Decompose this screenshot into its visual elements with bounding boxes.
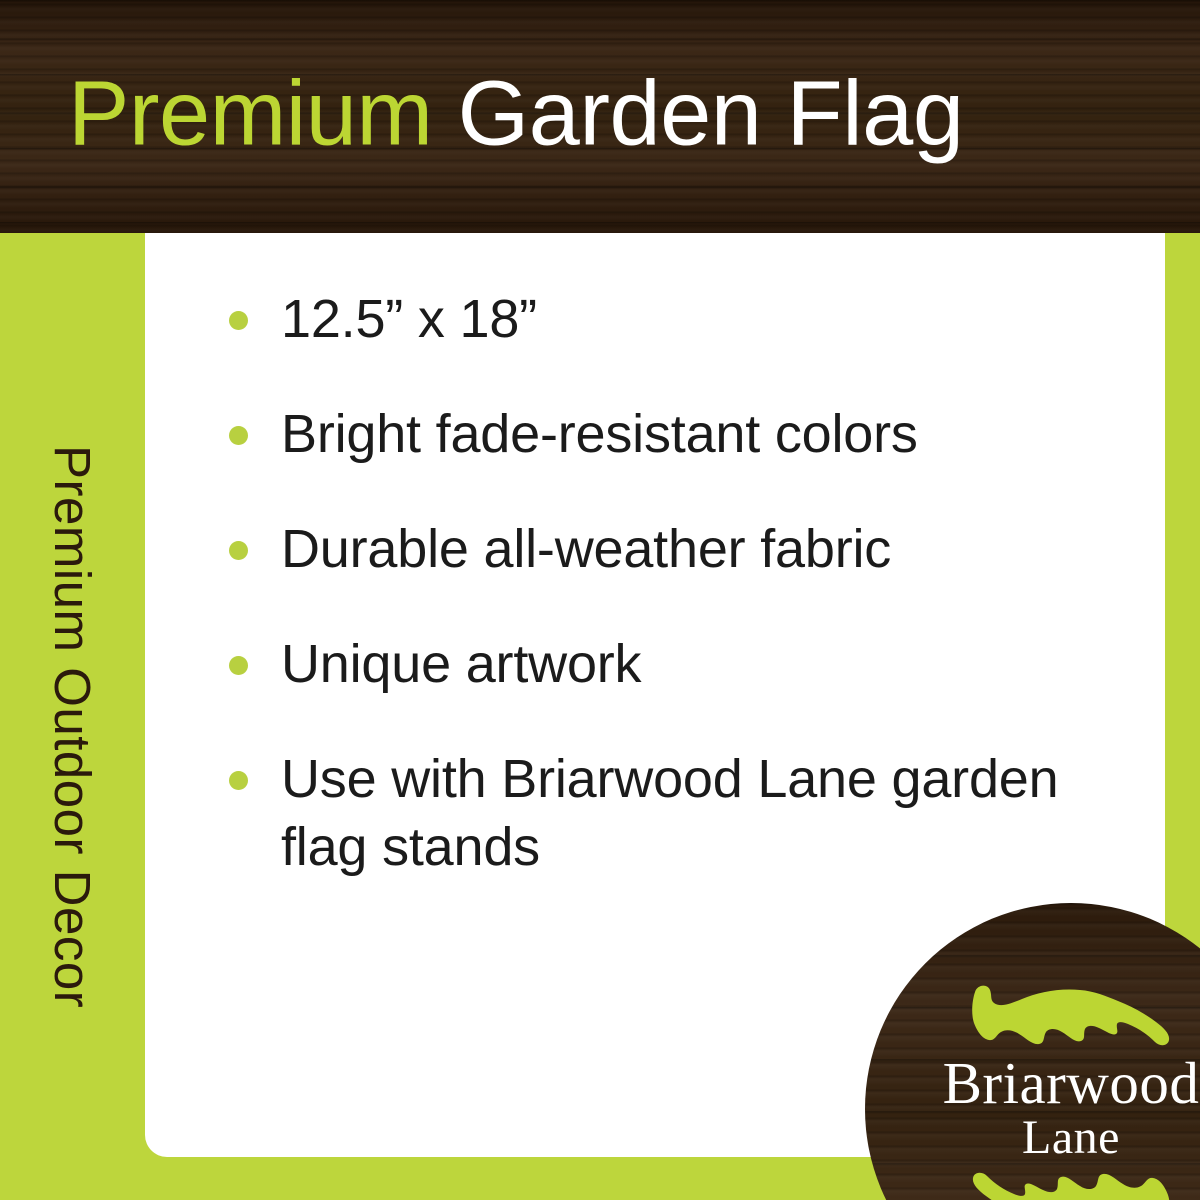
list-item-label: Unique artwork <box>281 634 641 694</box>
bullet-dot-icon <box>229 426 248 445</box>
list-item: Durable all-weather fabric <box>223 515 1073 583</box>
list-item-label: 12.5” x 18” <box>281 289 537 349</box>
feature-list: 12.5” x 18” Bright fade-resistant colors… <box>223 285 1073 881</box>
sidebar-vertical-label: Premium Outdoor Decor <box>0 233 145 1200</box>
header-banner: Premium Garden Flag <box>0 0 1200 233</box>
page-title-accent: Premium <box>68 62 433 164</box>
page-title-main: Garden Flag <box>458 62 964 164</box>
brand-name-secondary: Lane <box>1022 1113 1120 1163</box>
product-feature-card: Premium Garden Flag Premium Outdoor Deco… <box>0 0 1200 1200</box>
leaf-icon <box>968 1169 1174 1200</box>
list-item: 12.5” x 18” <box>223 285 1073 353</box>
list-item-label: Bright fade-resistant colors <box>281 404 918 464</box>
bullet-dot-icon <box>229 311 248 330</box>
bullet-dot-icon <box>229 541 248 560</box>
page-title: Premium Garden Flag <box>68 67 964 159</box>
list-item: Use with Briarwood Lane garden flag stan… <box>223 745 1073 881</box>
leaf-icon <box>968 981 1174 1049</box>
brand-logo-badge: Briarwood Lane <box>865 903 1200 1200</box>
sidebar-rail: Premium Outdoor Decor <box>0 233 145 1200</box>
list-item-label: Use with Briarwood Lane garden flag stan… <box>281 749 1058 877</box>
bullet-dot-icon <box>229 771 248 790</box>
list-item: Bright fade-resistant colors <box>223 400 1073 468</box>
sidebar-vertical-label-text: Premium Outdoor Decor <box>43 445 102 1008</box>
list-item-label: Durable all-weather fabric <box>281 519 891 579</box>
brand-name-primary: Briarwood <box>943 1053 1200 1113</box>
list-item: Unique artwork <box>223 630 1073 698</box>
bullet-dot-icon <box>229 656 248 675</box>
brand-logo-content: Briarwood Lane <box>865 903 1200 1200</box>
